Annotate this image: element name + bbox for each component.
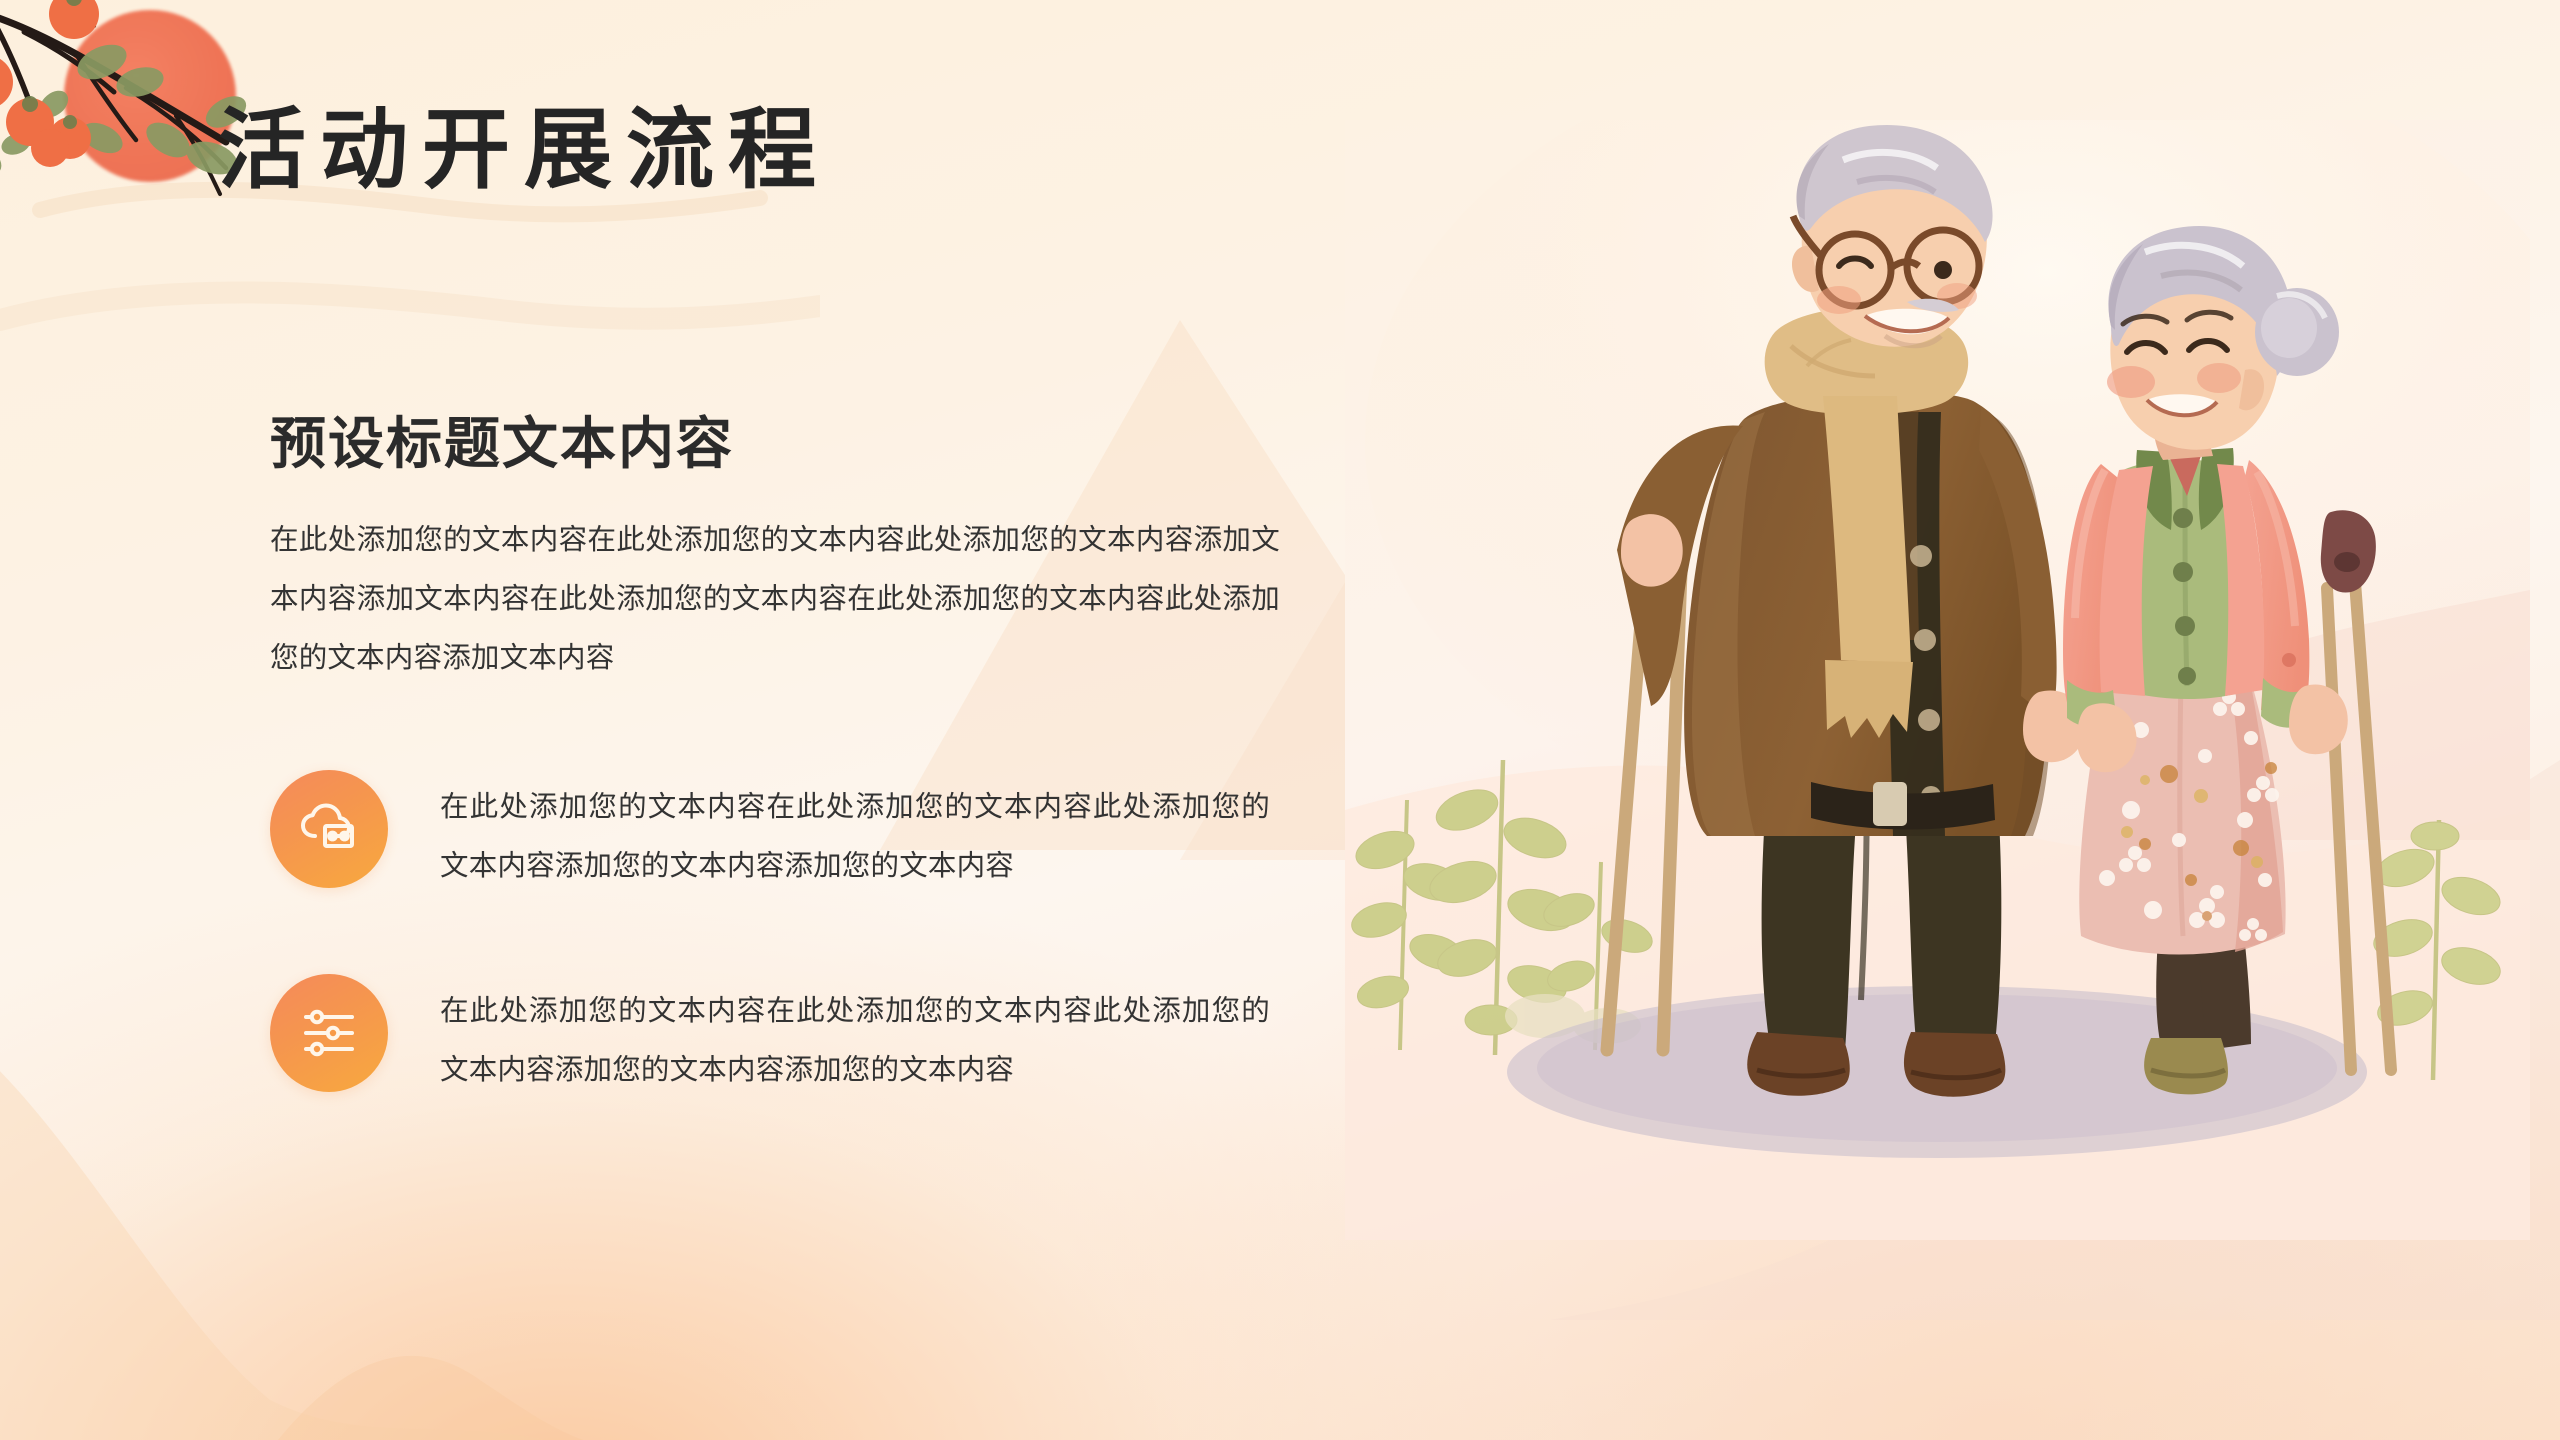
bullet-list: 在此处添加您的文本内容在此处添加您的文本内容此处添加您的文本内容添加您的文本内容…: [270, 770, 1330, 1100]
slide-root: 活动开展流程 预设标题文本内容 在此处添加您的文本内容在此处添加您的文本内容此处…: [0, 0, 2560, 1440]
list-item-text: 在此处添加您的文本内容在此处添加您的文本内容此处添加您的文本内容添加您的文本内容…: [440, 974, 1270, 1100]
list-item-text: 在此处添加您的文本内容在此处添加您的文本内容此处添加您的文本内容添加您的文本内容…: [440, 770, 1270, 896]
list-item[interactable]: 在此处添加您的文本内容在此处添加您的文本内容此处添加您的文本内容添加您的文本内容…: [270, 974, 1330, 1100]
section-paragraph: 在此处添加您的文本内容在此处添加您的文本内容此处添加您的文本内容添加文本内容添加…: [270, 511, 1280, 688]
content-block: 预设标题文本内容 在此处添加您的文本内容在此处添加您的文本内容此处添加您的文本内…: [270, 410, 1300, 688]
sliders-settings-icon: [270, 974, 388, 1092]
cloud-image-icon: [270, 770, 388, 888]
section-heading: 预设标题文本内容: [270, 410, 1300, 477]
elderly-couple-walking-illustration: [1345, 120, 2530, 1240]
list-item[interactable]: 在此处添加您的文本内容在此处添加您的文本内容此处添加您的文本内容添加您的文本内容…: [270, 770, 1330, 896]
page-title: 活动开展流程: [218, 95, 830, 205]
